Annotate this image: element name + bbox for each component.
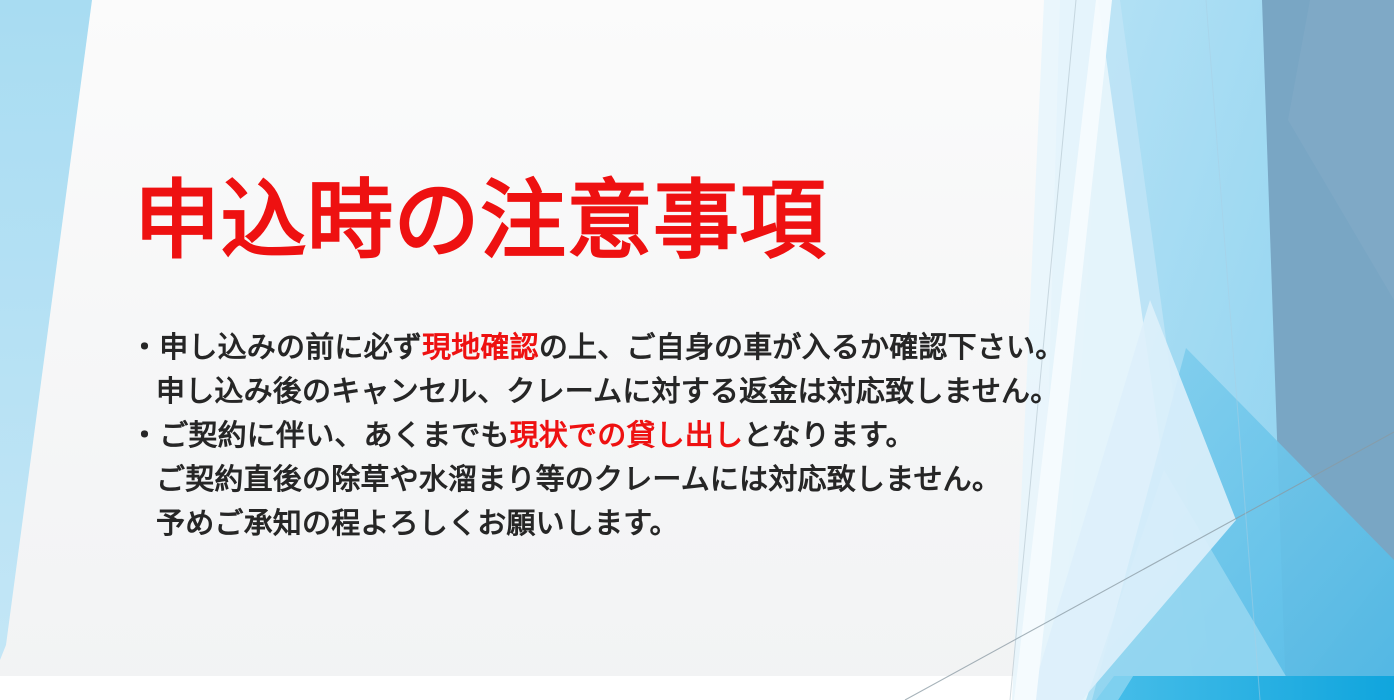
body-line: 申し込み後のキャンセル、クレームに対する返金は対応致しません。 <box>130 370 1130 414</box>
body-text: 申し込み後のキャンセル、クレームに対する返金は対応致しません。 <box>156 376 1059 408</box>
body-text: 予めご承知の程よろしくお願いします。 <box>156 508 679 540</box>
slide-title: 申込時の注意事項 <box>134 176 826 266</box>
highlight-text: 現状での貸し出し <box>510 420 744 452</box>
highlight-text: 現地確認 <box>422 332 539 364</box>
slide-content: 申込時の注意事項 ・申し込みの前に必ず現地確認の上、ご自身の車が入るか確認下さい… <box>0 0 1394 700</box>
body-text: となります。 <box>743 420 914 452</box>
presentation-slide: 申込時の注意事項 ・申し込みの前に必ず現地確認の上、ご自身の車が入るか確認下さい… <box>0 0 1394 700</box>
body-line: 予めご承知の程よろしくお願いします。 <box>130 502 1130 546</box>
slide-body-list: ・申し込みの前に必ず現地確認の上、ご自身の車が入るか確認下さい。申し込み後のキャ… <box>130 326 1130 546</box>
body-text: ・ご契約に伴い、あくまでも <box>130 420 510 452</box>
body-text: ・申し込みの前に必ず <box>130 332 422 364</box>
body-line: ・ご契約に伴い、あくまでも現状での貸し出しとなります。 <box>130 414 1130 458</box>
body-text: ご契約直後の除草や水溜まり等のクレームには対応致しません。 <box>156 464 1001 496</box>
body-line: ・申し込みの前に必ず現地確認の上、ご自身の車が入るか確認下さい。 <box>130 326 1130 370</box>
body-line: ご契約直後の除草や水溜まり等のクレームには対応致しません。 <box>130 458 1130 502</box>
body-text: の上、ご自身の車が入るか確認下さい。 <box>539 332 1065 364</box>
